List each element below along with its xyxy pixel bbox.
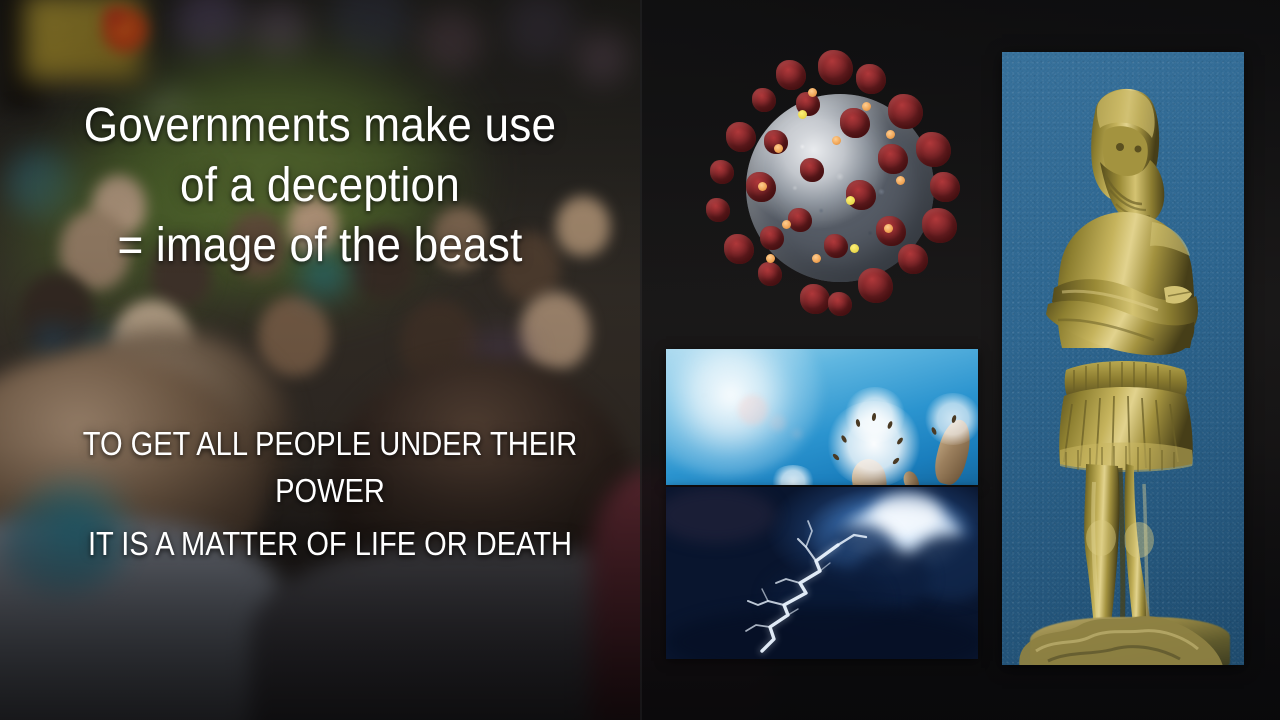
lightning-storm-image [666,487,978,659]
slide-title: Governments make useof a deception= imag… [26,96,615,276]
title-line-2: of a deception [180,159,460,212]
golden-statue-image [1002,52,1244,665]
title-line-1: Governments make use [84,99,556,152]
coronavirus-icon [700,48,980,328]
title-line-3: = image of the beast [117,219,522,272]
slide-subtitle-life-or-death: IT IS A MATTER OF LIFE OR DEATH [66,520,594,567]
milkweed-sky-image [666,349,978,485]
presentation-slide: Governments make useof a deception= imag… [0,0,1280,720]
lightning-bolt-icon [666,487,978,659]
slide-subtitle-power: TO GET ALL PEOPLE UNDER THEIR POWER [66,420,594,514]
panel-divider [640,0,642,720]
